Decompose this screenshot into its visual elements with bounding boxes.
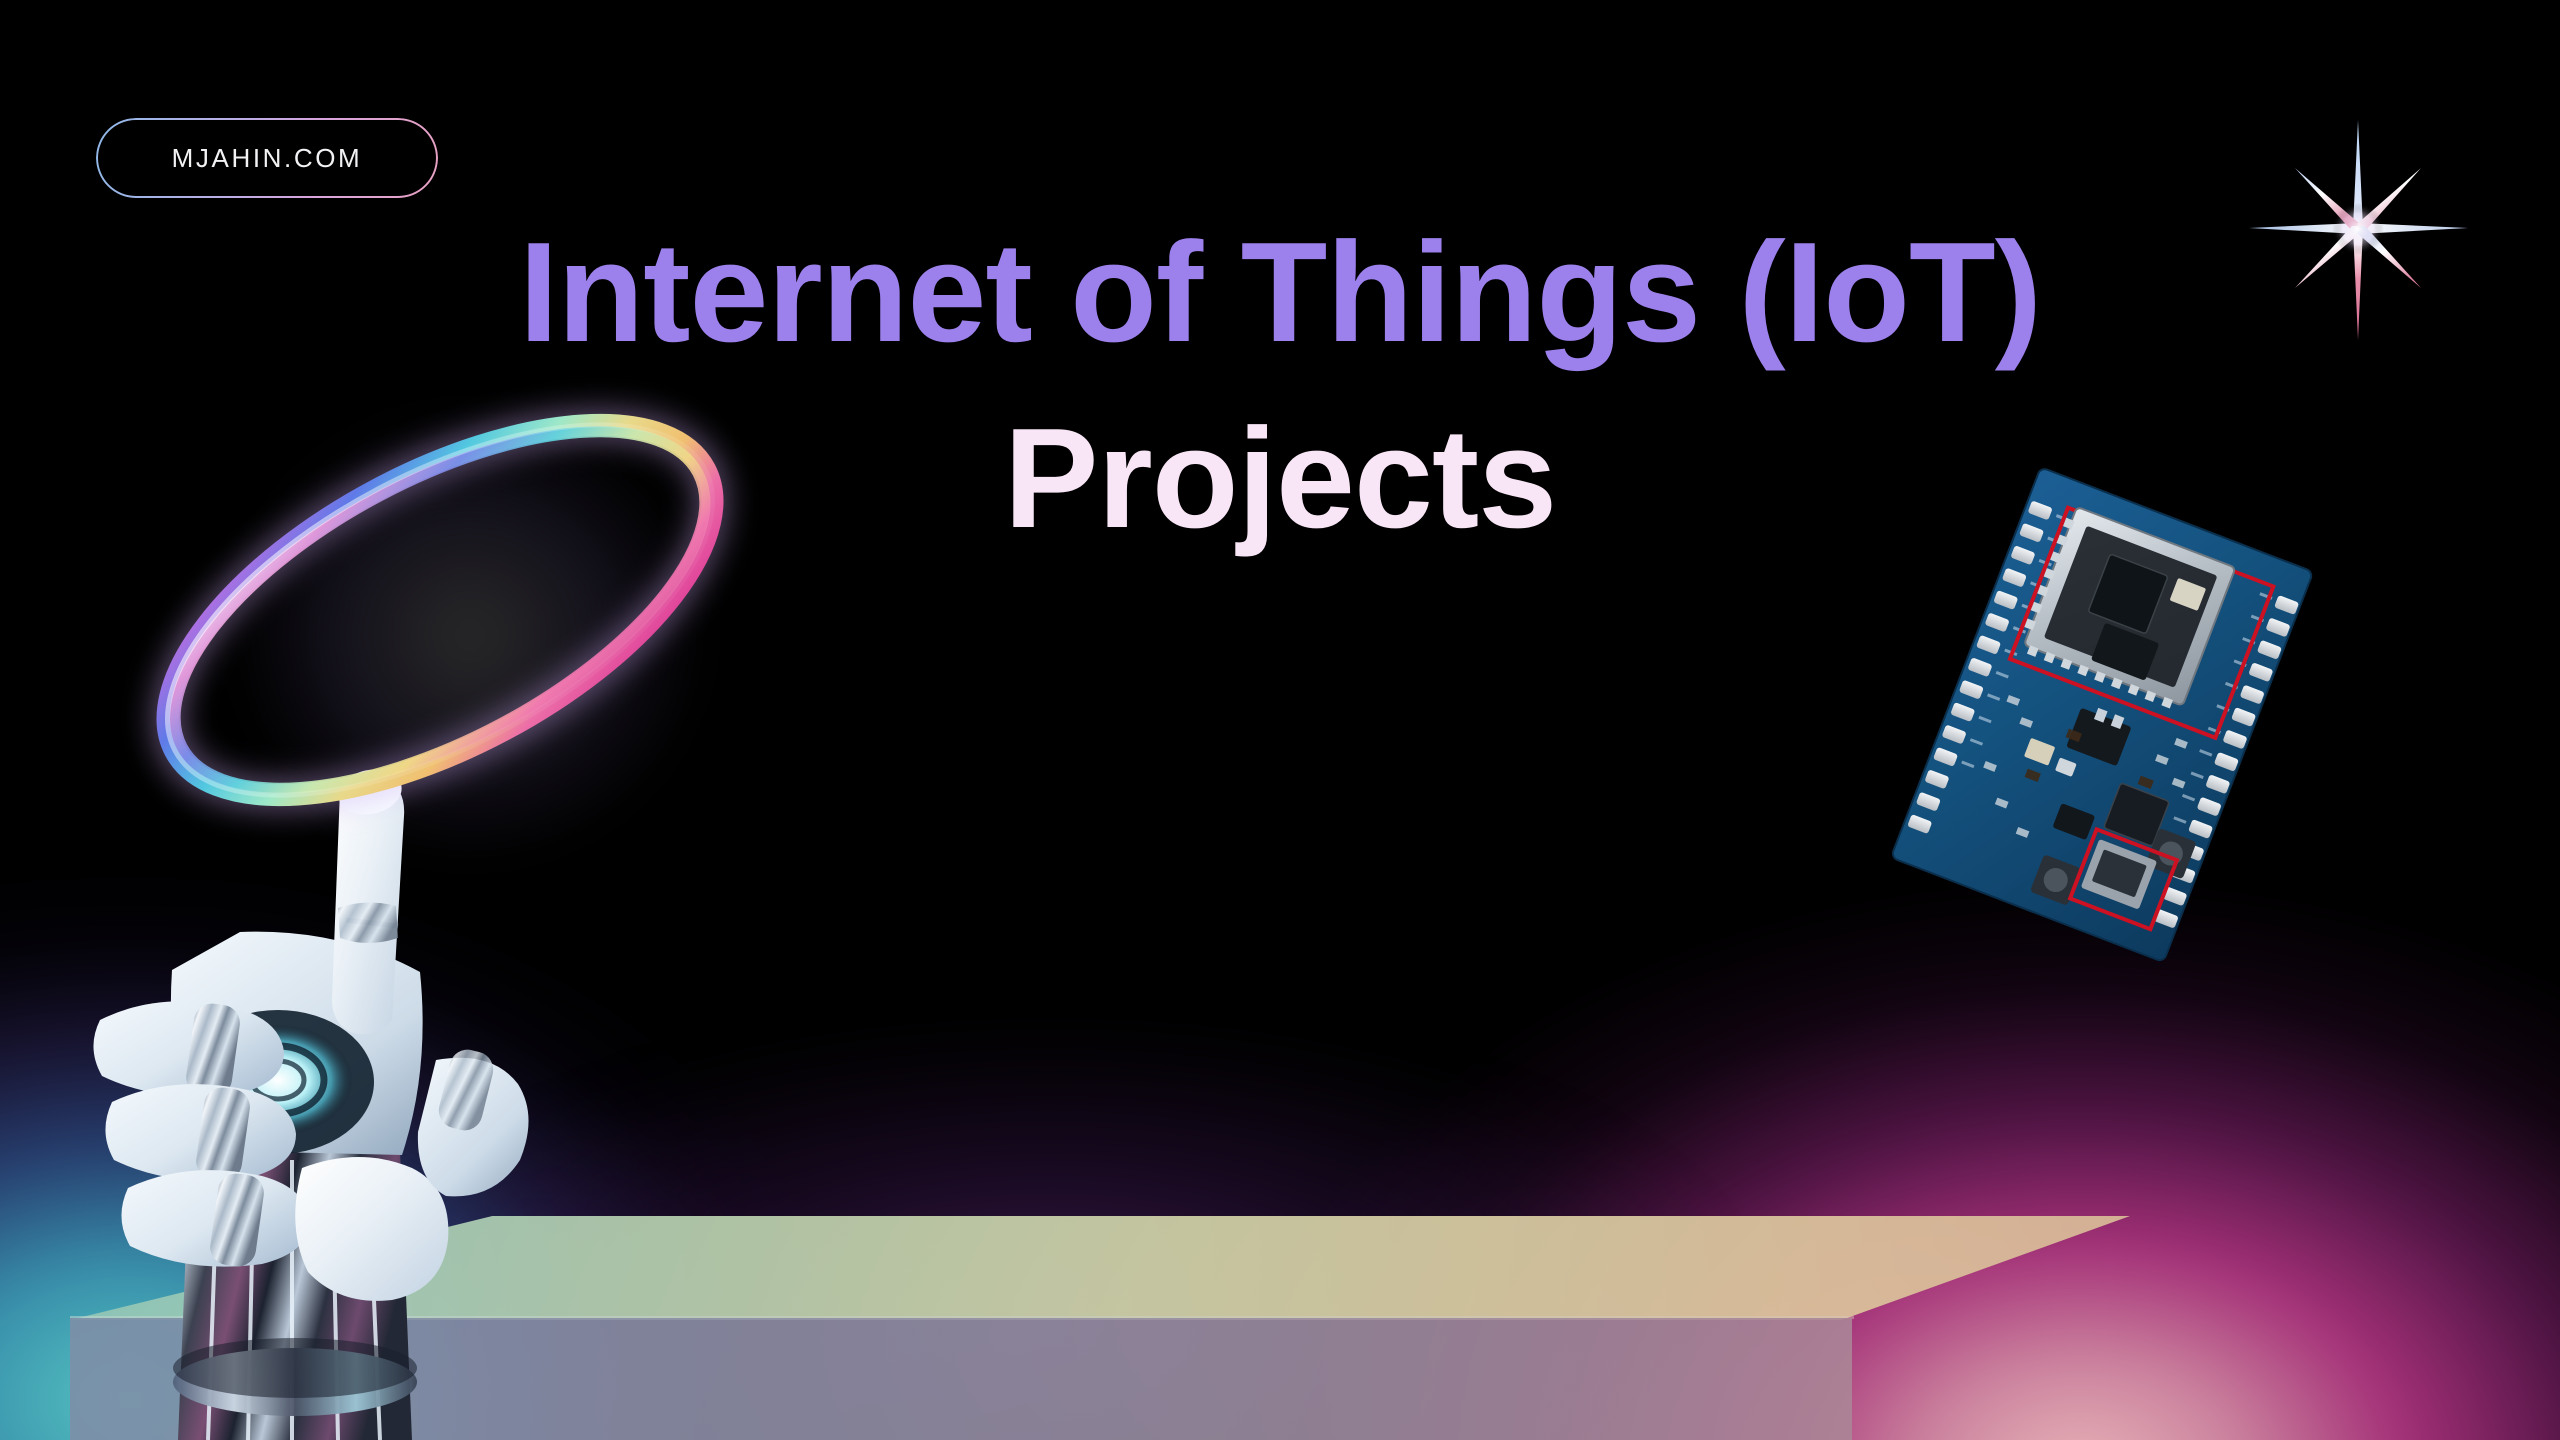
hero-banner: MJAHIN.COM bbox=[0, 0, 2560, 1440]
page-title: Internet of Things (IoT) Projects bbox=[0, 222, 2560, 550]
site-domain-badge-label: MJAHIN.COM bbox=[172, 143, 363, 174]
page-title-line-1: Internet of Things (IoT) bbox=[0, 222, 2560, 364]
site-domain-badge[interactable]: MJAHIN.COM bbox=[96, 118, 438, 198]
page-title-line-2: Projects bbox=[0, 408, 2560, 550]
four-point-sparkle-icon bbox=[2247, 118, 2469, 340]
